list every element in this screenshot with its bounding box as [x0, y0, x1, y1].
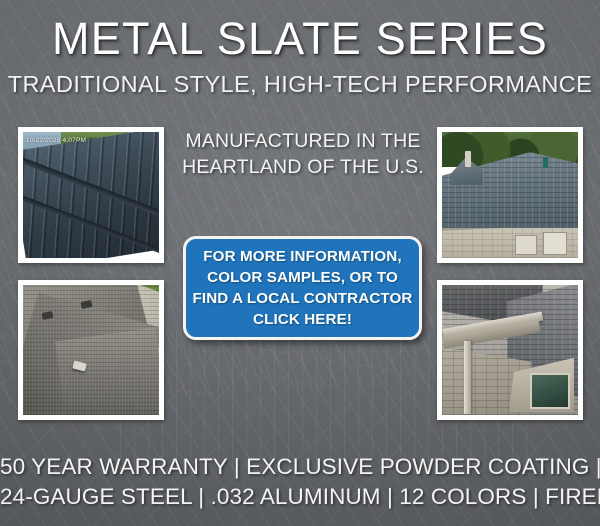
manufactured-statement-line-1: MANUFACTURED IN THE	[180, 128, 426, 154]
more-information-button-label: FOR MORE INFORMATION, COLOR SAMPLES, OR …	[193, 246, 413, 330]
cta-line-4: CLICK HERE!	[193, 309, 413, 330]
photo-3-garage-door-1	[543, 232, 567, 255]
cta-line-2: COLOR SAMPLES, OR TO	[193, 267, 413, 288]
photo-4-downspout	[464, 341, 471, 414]
page-title: METAL SLATE SERIES	[0, 14, 600, 64]
photo-gable-gutter-downspout	[437, 280, 583, 420]
header-block: METAL SLATE SERIES TRADITIONAL STYLE, HI…	[0, 14, 600, 98]
photo-1-image: 10/22/2025 4:07PM	[23, 132, 159, 258]
manufactured-statement-line-2: HEARTLAND OF THE U.S.	[180, 154, 426, 180]
photo-metal-slate-roof-closeup: 10/22/2025 4:07PM	[18, 127, 164, 263]
features-banner-line-2: 24-GAUGE STEEL | .032 ALUMINUM | 12 COLO…	[0, 482, 600, 512]
cta-line-1: FOR MORE INFORMATION,	[193, 246, 413, 267]
photo-1-timestamp-overlay: 10/22/2025 4:07PM	[26, 137, 86, 144]
metal-slate-series-ad: METAL SLATE SERIES TRADITIONAL STYLE, HI…	[0, 0, 600, 526]
more-information-button[interactable]: FOR MORE INFORMATION, COLOR SAMPLES, OR …	[183, 236, 422, 340]
photo-4-image	[442, 285, 578, 415]
page-subtitle: TRADITIONAL STYLE, HIGH-TECH PERFORMANCE	[0, 70, 600, 98]
cta-line-3: FIND A LOCAL CONTRACTOR	[193, 288, 413, 309]
photo-3-image	[442, 132, 578, 258]
features-banner-line-1: 50 YEAR WARRANTY | EXCLUSIVE POWDER COAT…	[0, 452, 600, 482]
features-banner: 50 YEAR WARRANTY | EXCLUSIVE POWDER COAT…	[0, 452, 600, 512]
photo-blue-gray-slate-roof-house	[437, 127, 583, 263]
photo-4-window	[530, 373, 569, 408]
manufactured-statement: MANUFACTURED IN THE HEARTLAND OF THE U.S…	[180, 128, 426, 180]
photo-3-chimney	[465, 151, 471, 167]
photo-2-image	[23, 285, 159, 415]
photo-3-garage-door-2	[515, 235, 537, 256]
photo-aerial-shingle-roof	[18, 280, 164, 420]
photo-3-worker	[543, 157, 548, 168]
